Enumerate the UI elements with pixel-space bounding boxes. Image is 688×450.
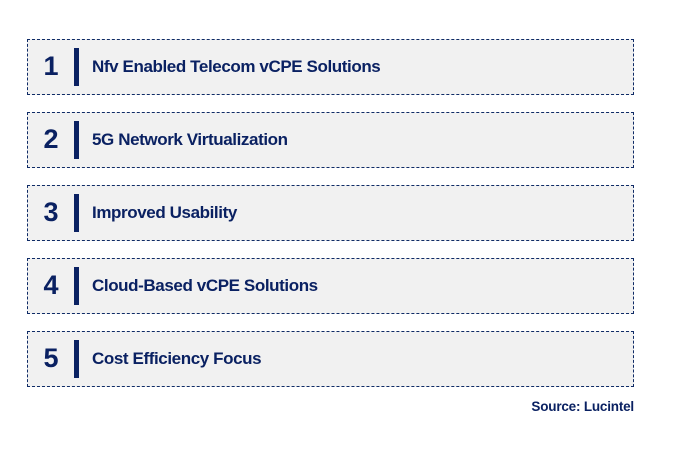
rank-number: 1 <box>28 53 74 82</box>
list-item[interactable]: 4 Cloud-Based vCPE Solutions <box>27 258 634 314</box>
rank-divider-bar <box>74 121 79 159</box>
list-item[interactable]: 3 Improved Usability <box>27 185 634 241</box>
rank-number: 2 <box>28 126 74 155</box>
rank-number: 3 <box>28 199 74 228</box>
trend-label: Improved Usability <box>92 203 237 223</box>
rank-divider-bar <box>74 194 79 232</box>
rank-divider-bar <box>74 340 79 378</box>
list-item[interactable]: 2 5G Network Virtualization <box>27 112 634 168</box>
trend-label: Nfv Enabled Telecom vCPE Solutions <box>92 57 380 77</box>
rank-number: 4 <box>28 272 74 301</box>
rank-divider-bar <box>74 267 79 305</box>
rank-number: 5 <box>28 345 74 374</box>
trend-list: 1 Nfv Enabled Telecom vCPE Solutions 2 5… <box>27 39 634 404</box>
trend-label: Cost Efficiency Focus <box>92 349 261 369</box>
trend-label: 5G Network Virtualization <box>92 130 288 150</box>
trend-label: Cloud-Based vCPE Solutions <box>92 276 318 296</box>
source-attribution: Source: Lucintel <box>531 399 634 414</box>
rank-divider-bar <box>74 48 79 86</box>
list-item[interactable]: 5 Cost Efficiency Focus <box>27 331 634 387</box>
list-item[interactable]: 1 Nfv Enabled Telecom vCPE Solutions <box>27 39 634 95</box>
